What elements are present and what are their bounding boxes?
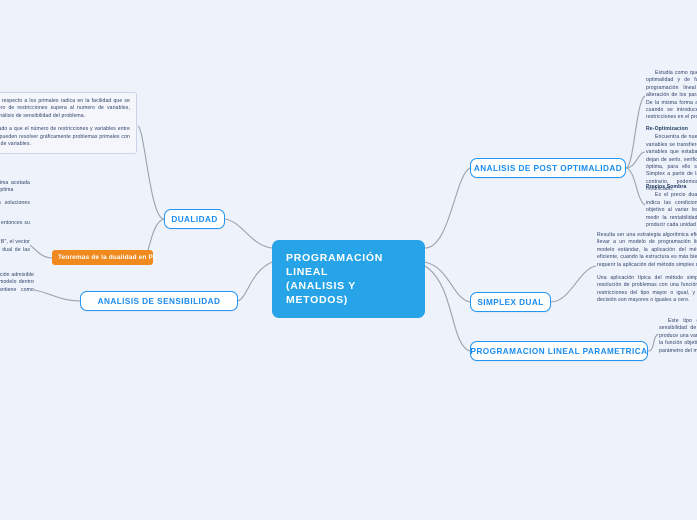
list-item: Si los problemas primal y dual poseen so… [0,200,30,215]
note-text: Una aplicación típica del método simplex… [597,275,697,305]
note-text: Otra ventaja que presenta es que dado a … [0,126,130,148]
teoremas-list: Si el problema primal posee solución ópt… [0,180,30,262]
note-text: Estudia como que cambios en las condicio… [646,70,697,122]
connector-note-sensibilidad [34,290,80,301]
connector-note-dualidad [138,126,164,219]
note-post-optimalidad-intro: Estudia como que cambios en las condicio… [646,70,697,122]
node-analisis-de-sensibilidad[interactable]: ANALISIS DE SENSIBILIDAD [80,291,238,311]
note-parametrica: Este tipo de programación lineal analiza… [659,318,697,355]
node-analisis-de-post-optimalidad[interactable]: ANALISIS DE POST OPTIMALIDAD [470,158,626,178]
connector-dualidad [225,219,272,248]
node-simplex-dual[interactable]: SIMPLEX DUAL [470,292,551,312]
connector-note-intro [626,96,645,168]
connector-post-optimalidad [425,168,470,248]
note-heading: Re-Optimizacion [646,126,697,133]
note-heading: Precios Sombra [646,184,697,191]
note-precios-sombra: Precios Sombra Es el precio dual asociad… [646,184,697,229]
note-simplex-dual: Resulta ser una estrategia algoritmica e… [597,232,697,305]
note-text: Resulta ser una estrategia algoritmica e… [597,232,697,269]
note-text: Este tipo de programación lineal analiza… [659,318,697,355]
connector-badge-list [30,245,52,258]
note-sensibilidad: Analiza el rango de variación de una sol… [0,272,34,302]
central-node[interactable]: PROGRAMACIÓN LINEAL (ANALISIS Y METODOS) [272,240,425,318]
connector-note-precios [626,168,645,205]
note-text: Analiza el rango de variación de una sol… [0,272,34,302]
node-programacion-lineal-parametrica[interactable]: PROGRAMACION LINEAL PARAMETRICA [470,341,648,361]
note-dualidad: La utilidad de los problemas duales resp… [0,92,137,154]
connector-simplex-dual [425,262,470,302]
note-text: La utilidad de los problemas duales resp… [0,98,130,120]
badge-teoremas-de-la-dualidad[interactable]: Teoremas de la dualidad en PL [52,250,153,265]
connector-parametrica [425,266,470,351]
list-item: Si "B" es una solución básica factible y… [0,239,30,261]
connector-note-parametrica [648,334,658,351]
note-teoremas-list: Si el problema primal posee solución ópt… [0,180,30,267]
connector-sensibilidad [238,262,272,301]
mindmap-canvas: PROGRAMACIÓN LINEAL (ANALISIS Y METODOS)… [0,0,697,520]
note-text: Es el precio dual asociado a cada restri… [646,192,697,229]
list-item: Si el problema primal posee solución ópt… [0,180,30,195]
list-item: Si un problema posee solución no acotada… [0,220,30,235]
node-dualidad[interactable]: DUALIDAD [164,209,225,229]
connector-note-simplex [551,266,596,302]
connector-note-reopt [626,152,645,168]
